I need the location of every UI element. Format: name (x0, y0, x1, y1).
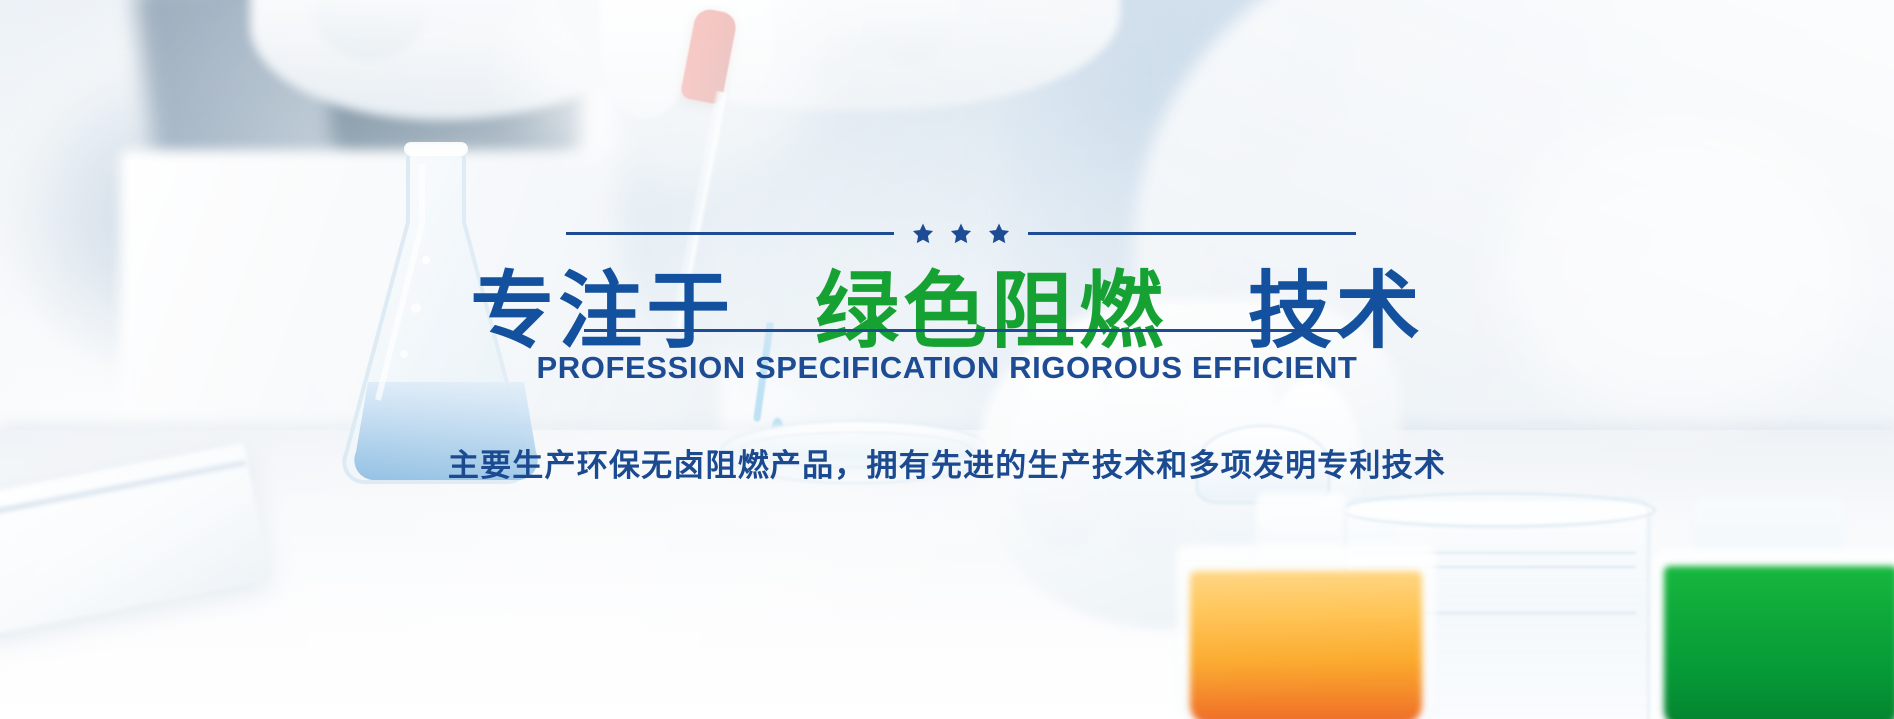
star-icon (950, 223, 972, 244)
bottom-decoration-rule (584, 329, 1353, 332)
banner-content: 专注于 绿色阻燃 技术 PROFESSION SPECIFICATION RIG… (0, 0, 1894, 719)
star-icon (912, 223, 934, 244)
title-part-3: 技术 (1248, 264, 1424, 358)
star-group (894, 223, 1028, 244)
subtitle-chinese: 主要生产环保无卤阻燃产品，拥有先进的生产技术和多项发明专利技术 (0, 440, 1894, 485)
rule-left (566, 232, 894, 235)
title-part-1: 专注于 (470, 264, 734, 358)
star-icon (988, 223, 1010, 244)
top-decoration-rule (566, 222, 1356, 244)
hero-banner: 专注于 绿色阻燃 技术 PROFESSION SPECIFICATION RIG… (0, 0, 1894, 719)
title-part-2: 绿色阻燃 (815, 264, 1167, 358)
rule-right (1028, 232, 1356, 235)
subtitle-english: PROFESSION SPECIFICATION RIGOROUS EFFICI… (0, 350, 1894, 386)
